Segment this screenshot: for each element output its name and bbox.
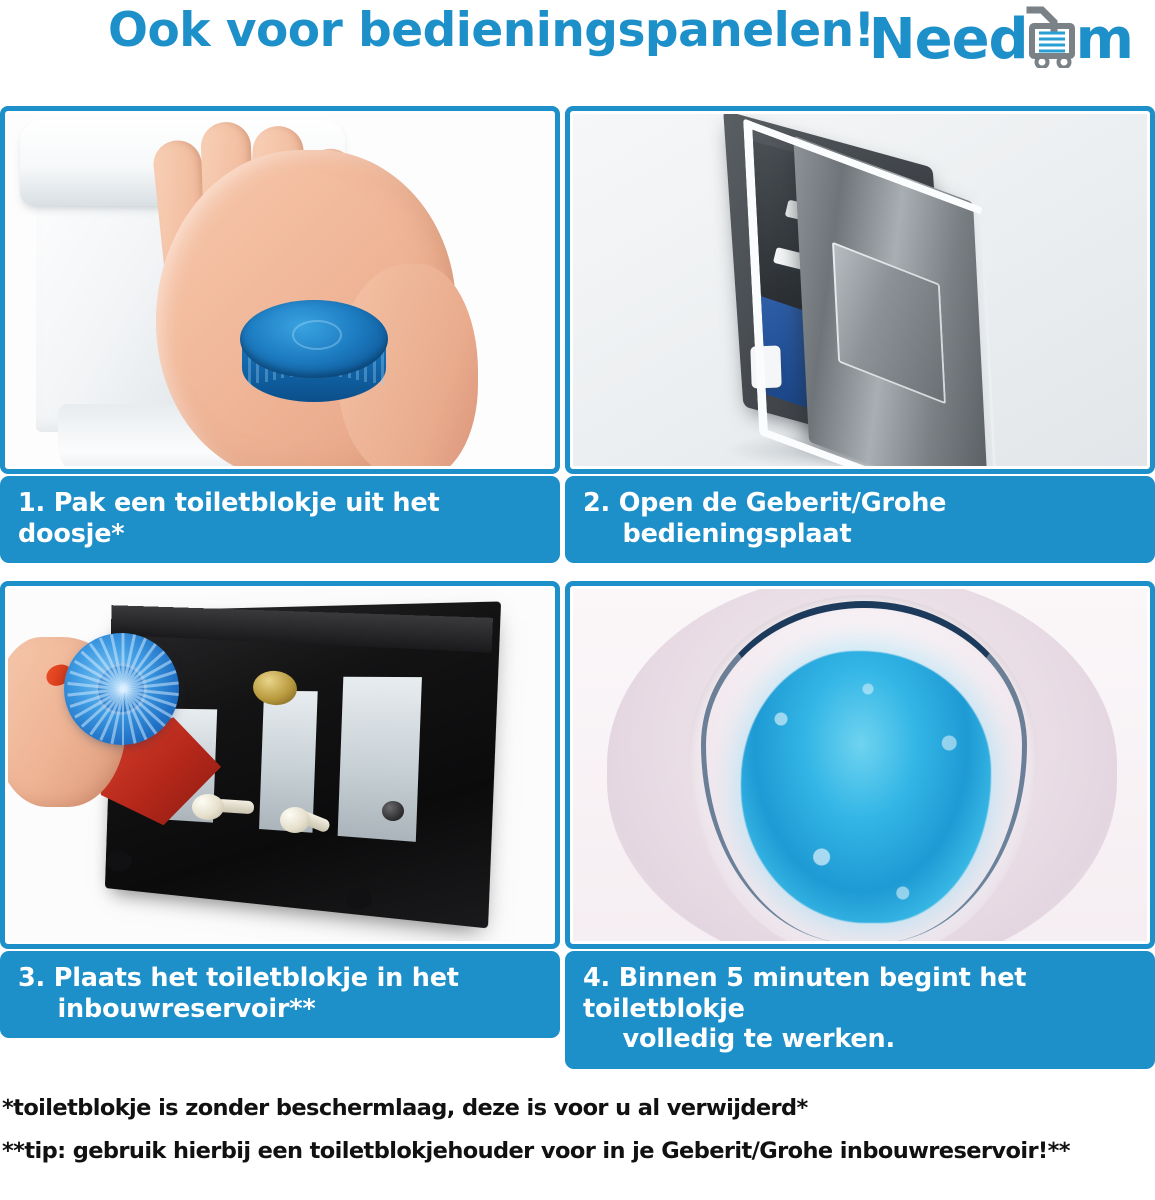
shopping-cart-icon: [1024, 6, 1078, 68]
step-2-caption: 2. Open de Geberit/Grohe bedieningsplaat: [565, 476, 1155, 563]
step-1-caption: 1. Pak een toiletblokje uit het doosje*: [0, 476, 560, 563]
step-3-caption: 3. Plaats het toiletblokje in het inbouw…: [0, 951, 560, 1038]
blue-toilet-block-shape: [64, 633, 179, 745]
water-splash-foam: [723, 635, 1013, 935]
step-4-photo-frame: [565, 581, 1155, 949]
concealed-cistern-frame-image: [8, 589, 552, 941]
white-knob: [192, 794, 224, 820]
step-4-caption: 4. Binnen 5 minuten begint het toiletblo…: [565, 951, 1155, 1069]
needum-logo[interactable]: Need m: [869, 6, 1133, 68]
step-card-2: 2. Open de Geberit/Grohe bedieningsplaat: [565, 106, 1155, 563]
blue-toilet-block-shape: [240, 300, 388, 412]
geberit-grohe-flush-plate-image: [573, 114, 1147, 466]
logo-wordmark: Need m: [869, 6, 1133, 68]
steps-grid: 1. Pak een toiletblokje uit het doosje* …: [0, 106, 1155, 1069]
footnote-1: *toiletblokje is zonder beschermlaag, de…: [2, 1095, 1155, 1121]
block-center-ring: [292, 320, 342, 350]
step-card-3: 3. Plaats het toiletblokje in het inbouw…: [0, 581, 560, 1069]
step-2-caption-line1: 2. Open de Geberit/Grohe: [583, 488, 946, 519]
step-2-photo-frame: [565, 106, 1155, 474]
logo-text-need: Need: [869, 12, 1028, 68]
step-4-caption-line1: 4. Binnen 5 minuten begint het toiletblo…: [583, 963, 1139, 1024]
footnotes-block: *toiletblokje is zonder beschermlaag, de…: [0, 1095, 1155, 1164]
toilet-bowl-blue-water-image: [573, 589, 1147, 941]
step-3-caption-line2: inbouwreservoir**: [18, 994, 459, 1025]
step-card-4: 4. Binnen 5 minuten begint het toiletblo…: [565, 581, 1155, 1069]
step-4-caption-line2: volledig te werken.: [583, 1024, 1139, 1055]
step-2-caption-line2: bedieningsplaat: [583, 519, 946, 550]
step-3-caption-line1: 3. Plaats het toiletblokje in het: [18, 963, 459, 994]
step-1-photo-frame: [0, 106, 560, 474]
step-3-photo-frame: [0, 581, 560, 949]
footnote-2: **tip: gebruik hierbij een toiletblokjeh…: [2, 1138, 1155, 1164]
step-1-caption-line1: 1. Pak een toiletblokje uit het doosje*: [18, 488, 544, 549]
white-lever: [750, 345, 781, 388]
logo-text-m: m: [1076, 12, 1133, 68]
hand-holding-toilet-block-image: [8, 114, 552, 466]
page-header: Need m Ook voor bedieningspanelen!: [0, 0, 1155, 78]
step-card-1: 1. Pak een toiletblokje uit het doosje*: [0, 106, 560, 563]
cistern-window: [338, 677, 422, 842]
white-knob: [280, 807, 310, 833]
